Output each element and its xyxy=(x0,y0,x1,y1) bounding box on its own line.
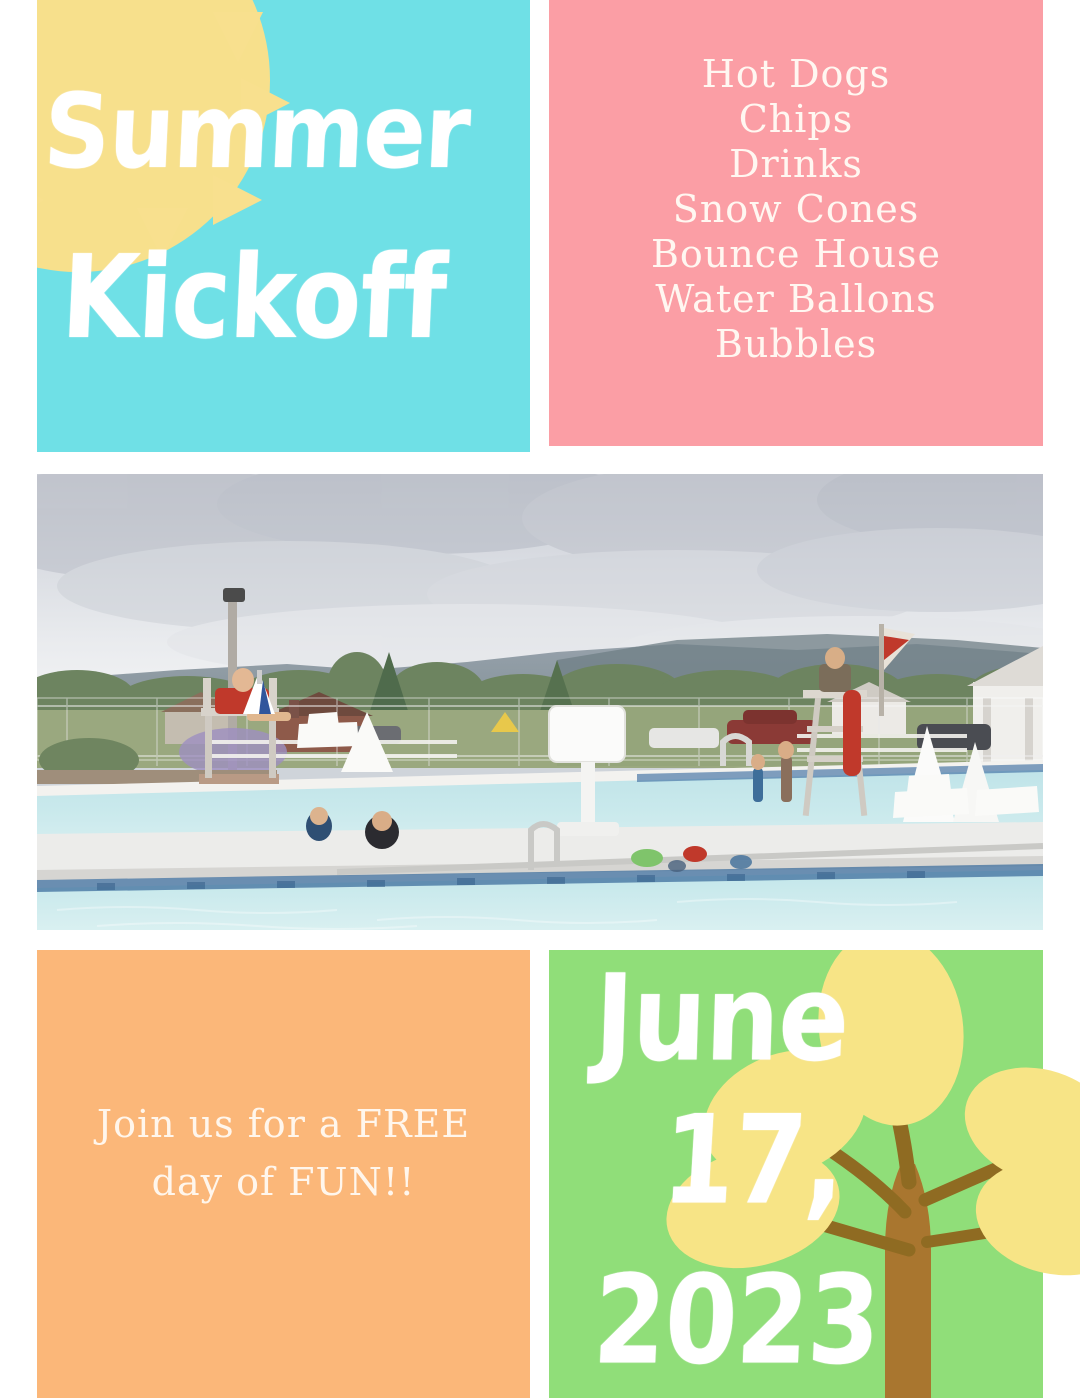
rescue-tube xyxy=(843,690,861,776)
title-panel: Summer Kickoff xyxy=(37,0,530,452)
swimmer-red xyxy=(683,846,707,862)
pool-float-green xyxy=(631,849,663,867)
invite-panel: Join us for a FREE day of FUN!! xyxy=(37,950,530,1398)
activity-item: Bubbles xyxy=(715,322,877,367)
activities-panel: Hot Dogs Chips Drinks Snow Cones Bounce … xyxy=(549,0,1043,446)
activity-item: Drinks xyxy=(729,142,863,187)
activity-item: Chips xyxy=(739,97,854,142)
activity-item: Water Ballons xyxy=(655,277,936,322)
activity-item: Snow Cones xyxy=(673,187,919,232)
activity-item: Bounce House xyxy=(651,232,941,277)
title-text-group: Summer Kickoff xyxy=(37,0,530,452)
activity-item: Hot Dogs xyxy=(702,52,891,97)
invite-text: Join us for a FREE day of FUN!! xyxy=(74,1095,494,1211)
title-line-kickoff: Kickoff xyxy=(59,230,449,365)
date-panel xyxy=(549,950,1043,1398)
title-line-summer: Summer xyxy=(41,72,472,192)
parked-car-white xyxy=(649,728,719,748)
pool-photo xyxy=(37,474,1043,930)
summer-kickoff-flyer: Summer Kickoff Hot Dogs Chips Drinks Sno… xyxy=(0,0,1080,1398)
